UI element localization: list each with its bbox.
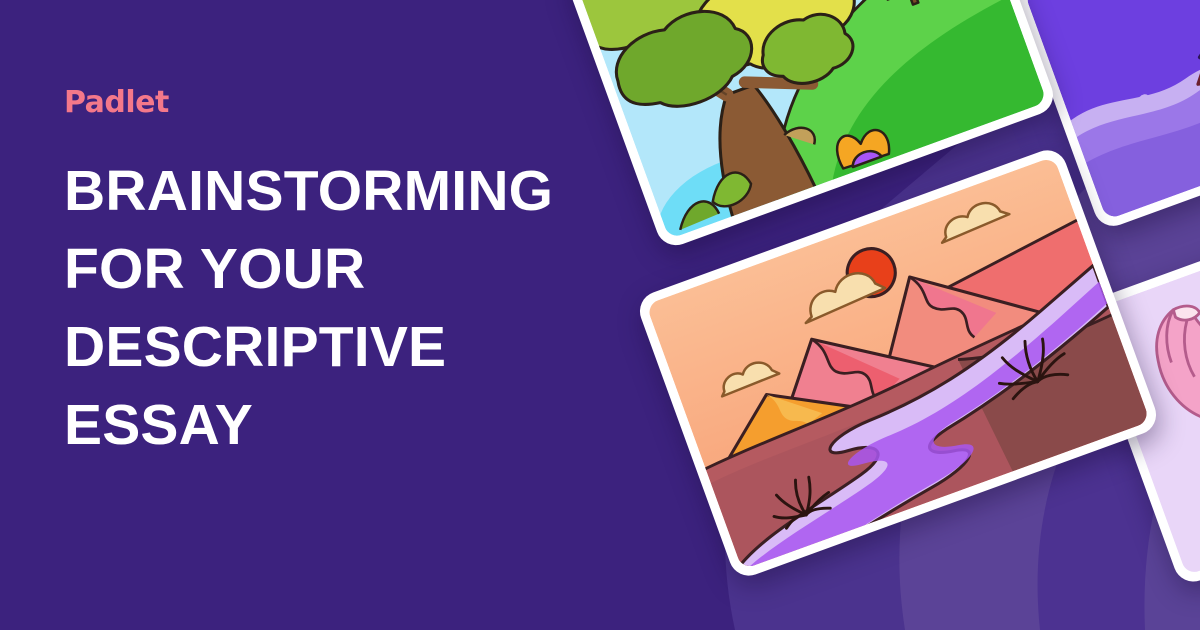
title-line-1: BRAINSTORMING (64, 159, 553, 223)
page-title: BRAINSTORMING FOR YOUR DESCRIPTIVE ESSAY (64, 152, 604, 464)
poster-canvas: Padlet BRAINSTORMING FOR YOUR DESCRIPTIV… (0, 0, 1200, 630)
title-line-2: FOR YOUR (64, 237, 365, 301)
padlet-logo[interactable]: Padlet (64, 88, 604, 118)
title-line-4: ESSAY (64, 393, 253, 457)
title-line-3: DESCRIPTIVE (64, 315, 446, 379)
hero-text-block: Padlet BRAINSTORMING FOR YOUR DESCRIPTIV… (64, 88, 604, 464)
